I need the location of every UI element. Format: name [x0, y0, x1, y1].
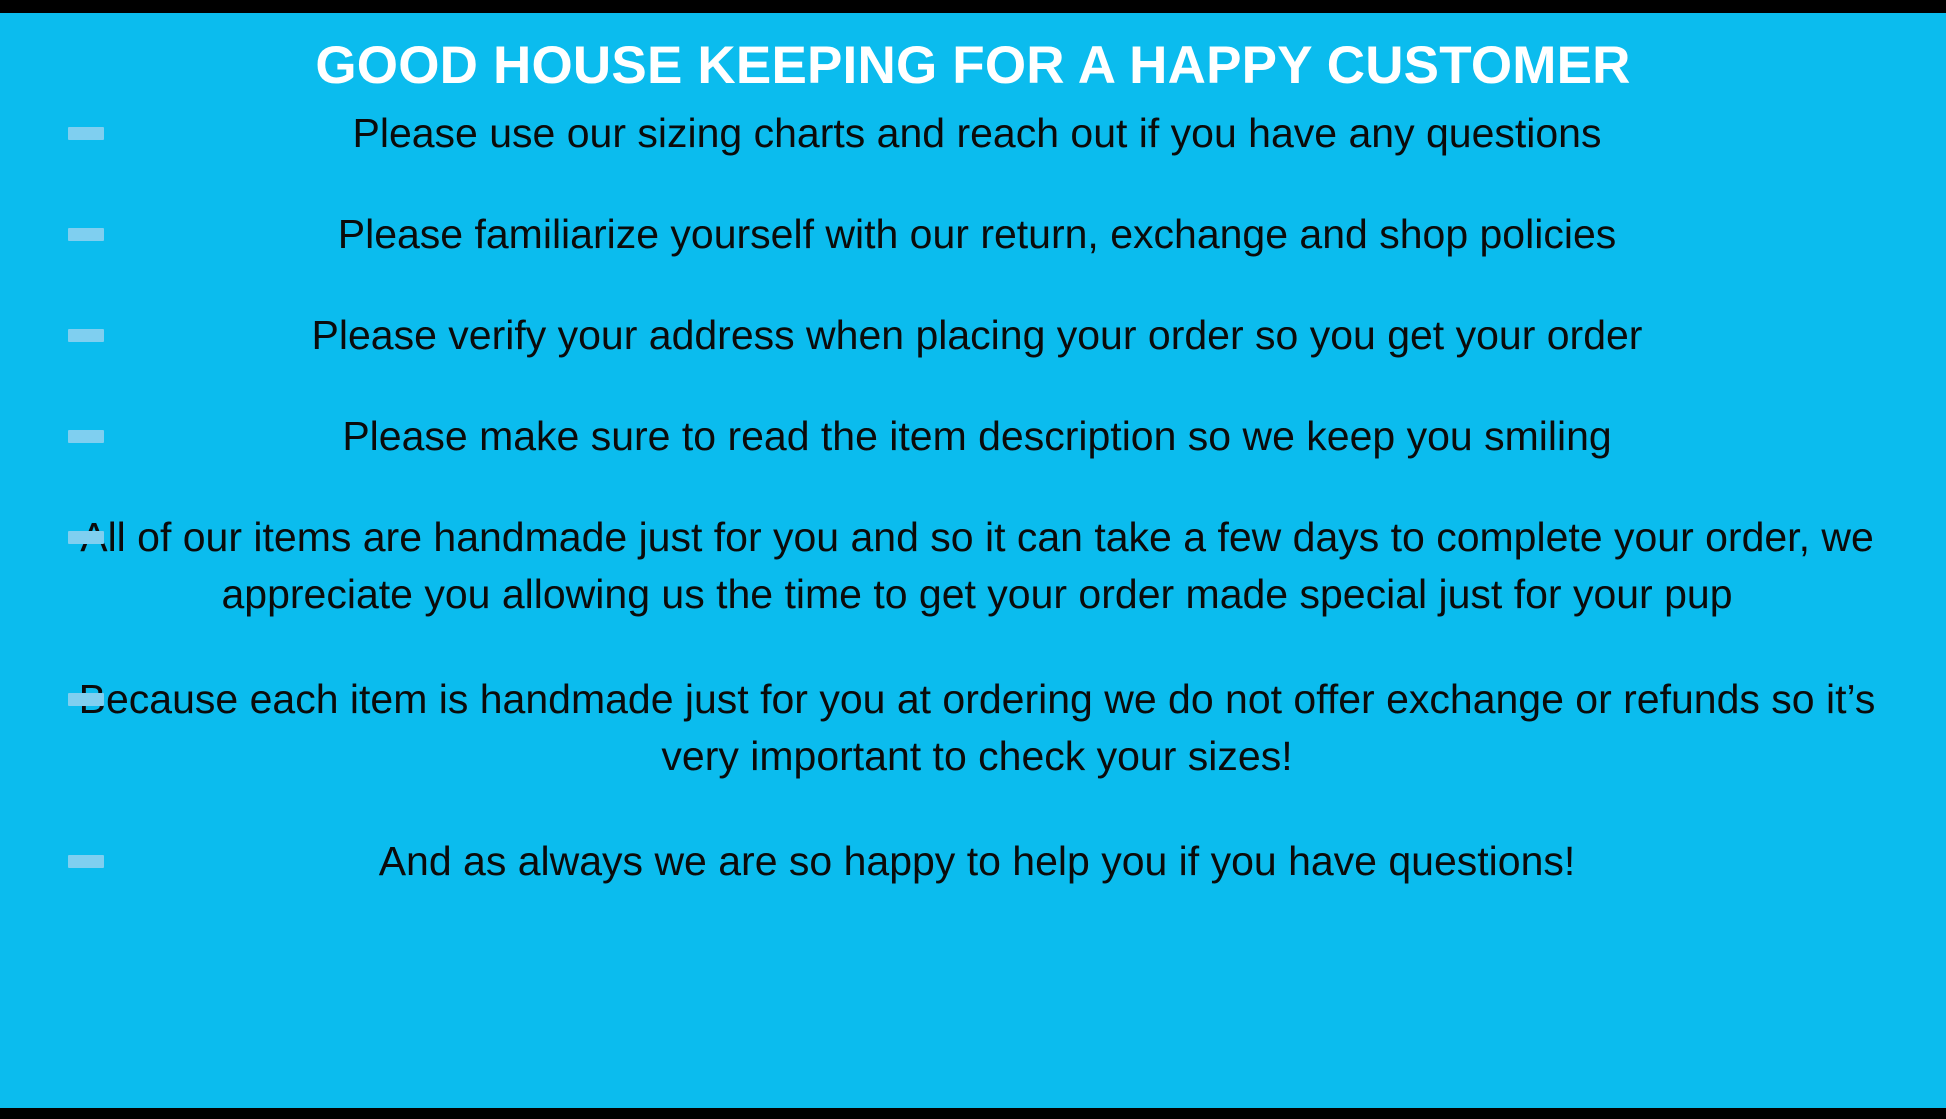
bullet-list: Please use our sizing charts and reach o…	[0, 105, 1946, 934]
list-item-text: Please use our sizing charts and reach o…	[70, 105, 1946, 162]
dash-bullet-icon	[68, 127, 104, 140]
page-title: GOOD HOUSE KEEPING FOR A HAPPY CUSTOMER	[0, 36, 1946, 96]
list-item-text: Please familiarize yourself with our ret…	[70, 206, 1946, 263]
top-letterbox-bar	[0, 0, 1946, 13]
list-item: Please familiarize yourself with our ret…	[0, 206, 1946, 263]
list-item: And as always we are so happy to help yo…	[0, 833, 1946, 890]
dash-bullet-icon	[68, 693, 104, 706]
list-item: Because each item is handmade just for y…	[0, 671, 1946, 785]
bottom-letterbox-bar	[0, 1108, 1946, 1119]
list-item-text: Please make sure to read the item descri…	[70, 408, 1946, 465]
slide-canvas: GOOD HOUSE KEEPING FOR A HAPPY CUSTOMER …	[0, 13, 1946, 1108]
dash-bullet-icon	[68, 329, 104, 342]
list-item: Please make sure to read the item descri…	[0, 408, 1946, 465]
list-item-text: And as always we are so happy to help yo…	[70, 833, 1946, 890]
list-item-text: All of our items are handmade just for y…	[70, 509, 1946, 623]
list-item: All of our items are handmade just for y…	[0, 509, 1946, 623]
list-item: Please use our sizing charts and reach o…	[0, 105, 1946, 162]
slide: GOOD HOUSE KEEPING FOR A HAPPY CUSTOMER …	[0, 0, 1946, 1119]
dash-bullet-icon	[68, 855, 104, 868]
dash-bullet-icon	[68, 228, 104, 241]
list-item-text: Because each item is handmade just for y…	[70, 671, 1946, 785]
dash-bullet-icon	[68, 430, 104, 443]
list-item-text: Please verify your address when placing …	[70, 307, 1946, 364]
list-item: Please verify your address when placing …	[0, 307, 1946, 364]
dash-bullet-icon	[68, 531, 104, 544]
